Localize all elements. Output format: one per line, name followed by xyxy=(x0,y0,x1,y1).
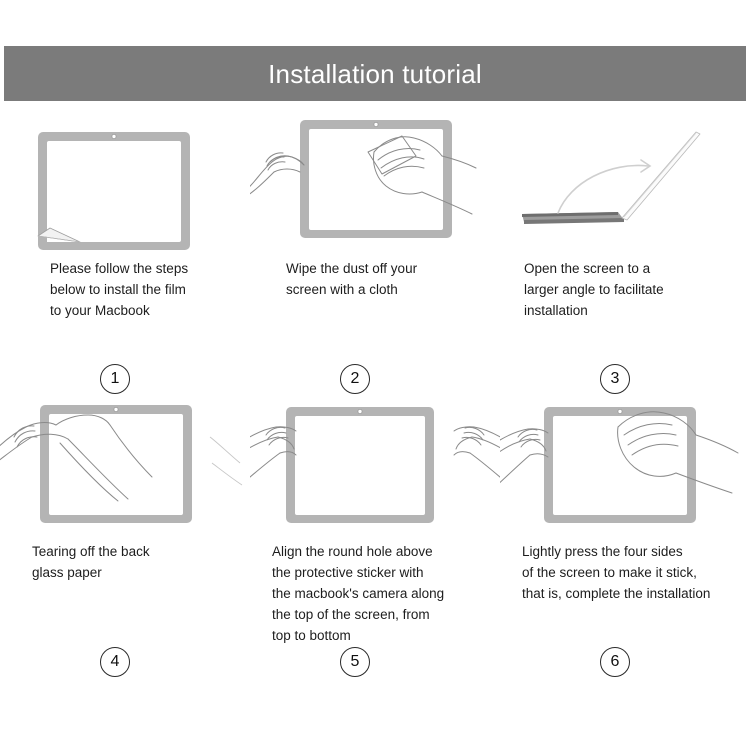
step-3-caption: Open the screen to a larger angle to fac… xyxy=(500,258,750,321)
step-1-illustration xyxy=(0,110,250,250)
left-hand-icon xyxy=(250,153,304,200)
right-hand-icon xyxy=(454,427,500,489)
caption-line: top to bottom xyxy=(272,625,496,646)
tablet-frame-icon xyxy=(544,407,696,523)
step-6-caption: Lightly press the four sides of the scre… xyxy=(500,541,750,604)
step-panel-2: Wipe the dust off your screen with a clo… xyxy=(250,110,500,393)
caption-line: the top of the screen, from xyxy=(272,604,496,625)
step-panel-1: Please follow the steps below to install… xyxy=(0,110,250,393)
step-5-illustration xyxy=(250,393,500,533)
step-4-caption: Tearing off the back glass paper xyxy=(0,541,250,583)
caption-line: Align the round hole above xyxy=(272,541,496,562)
step-panel-4: Tearing off the back glass paper 4 xyxy=(0,393,250,676)
caption-line: to your Macbook xyxy=(50,300,240,321)
step-2-caption: Wipe the dust off your screen with a clo… xyxy=(250,258,500,300)
step-number-badge-5: 5 xyxy=(340,647,370,677)
left-hand-pressing-icon xyxy=(500,429,548,495)
steps-grid: Please follow the steps below to install… xyxy=(0,110,750,750)
step-panel-3: Open the screen to a larger angle to fac… xyxy=(500,110,750,393)
caption-line: installation xyxy=(524,300,740,321)
caption-line: Tearing off the back xyxy=(32,541,240,562)
step-1-caption: Please follow the steps below to install… xyxy=(0,258,250,321)
caption-line: larger angle to facilitate xyxy=(524,279,740,300)
step-number-badge-1: 1 xyxy=(100,364,130,394)
caption-line: Open the screen to a xyxy=(524,258,740,279)
caption-line: Lightly press the four sides xyxy=(522,541,748,562)
header-bar: Installation tutorial xyxy=(4,46,746,101)
peeled-sheet-edge-icon xyxy=(210,437,242,485)
caption-line: that is, complete the installation xyxy=(522,583,748,604)
tablet-frame-icon xyxy=(38,132,190,250)
step-number-badge-6: 6 xyxy=(600,647,630,677)
laptop-screen-icon xyxy=(622,132,700,220)
step-panel-5: Align the round hole above the protectiv… xyxy=(250,393,500,676)
tablet-frame-icon xyxy=(300,120,452,238)
caption-line: of the screen to make it stick, xyxy=(522,562,748,583)
step-3-illustration xyxy=(500,110,750,250)
caption-line: Wipe the dust off your xyxy=(286,258,492,279)
step-number-badge-4: 4 xyxy=(100,647,130,677)
caption-line: below to install the film xyxy=(50,279,240,300)
caption-line: screen with a cloth xyxy=(286,279,492,300)
step-6-illustration xyxy=(500,393,750,533)
caption-line: the macbook's camera along xyxy=(272,583,496,604)
laptop-base-icon xyxy=(522,212,624,224)
step-5-caption: Align the round hole above the protectiv… xyxy=(250,541,500,646)
tablet-frame-icon xyxy=(40,405,192,523)
caption-line: the protective sticker with xyxy=(272,562,496,583)
step-panel-6: Lightly press the four sides of the scre… xyxy=(500,393,750,676)
page-title: Installation tutorial xyxy=(268,61,482,87)
step-number-badge-2: 2 xyxy=(340,364,370,394)
step-4-illustration xyxy=(0,393,250,533)
step-number-badge-3: 3 xyxy=(600,364,630,394)
step-2-illustration xyxy=(250,110,500,250)
caption-line: Please follow the steps xyxy=(50,258,240,279)
caption-line: glass paper xyxy=(32,562,240,583)
tablet-frame-icon xyxy=(286,407,434,523)
